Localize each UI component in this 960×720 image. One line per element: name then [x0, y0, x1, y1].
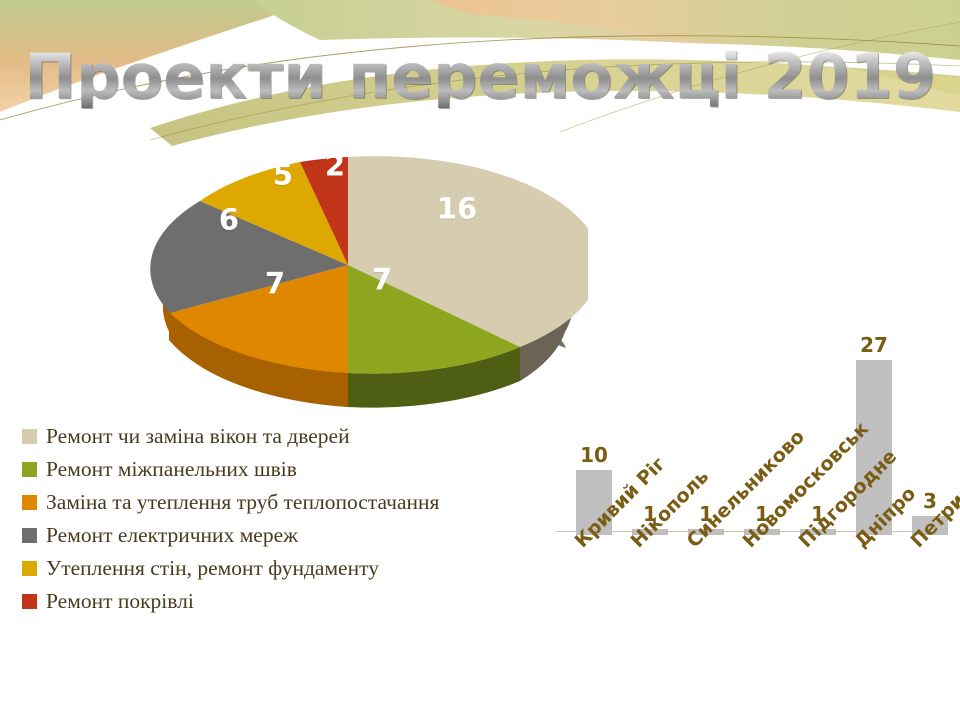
pie-label-gray: 6 — [219, 206, 239, 235]
pie-chart-svg — [108, 120, 588, 410]
legend-swatch-icon-orange — [22, 495, 37, 510]
legend-swatch-icon-gold — [22, 561, 37, 576]
pie-label-gold: 5 — [273, 161, 293, 190]
legend-item-heating-pipes[interactable]: Заміна та утеплення труб теплопостачання — [22, 486, 542, 519]
pie-chart: 16 7 7 6 5 2 — [108, 120, 588, 410]
legend-item-panel-seams[interactable]: Ремонт міжпанельних швів — [22, 453, 542, 486]
legend-label: Утеплення стін, ремонт фундаменту — [46, 556, 379, 581]
legend-item-electrical[interactable]: Ремонт електричних мереж — [22, 519, 542, 552]
bar-value-label: 27 — [860, 335, 888, 355]
pie-legend: Ремонт чи заміна вікон та дверей Ремонт … — [22, 420, 542, 618]
bar-value-label: 10 — [580, 445, 608, 465]
legend-item-wall-insulation[interactable]: Утеплення стін, ремонт фундаменту — [22, 552, 542, 585]
legend-label: Ремонт чи заміна вікон та дверей — [46, 424, 350, 449]
legend-swatch-icon-green — [22, 462, 37, 477]
legend-label: Ремонт покрівлі — [46, 589, 194, 614]
pie-label-orange: 7 — [265, 270, 285, 299]
pie-top-face — [150, 156, 588, 373]
pie-label-beige: 16 — [437, 195, 477, 224]
legend-label: Ремонт електричних мереж — [46, 523, 298, 548]
legend-swatch-icon-gray — [22, 528, 37, 543]
page-title: Проекти переможці 2019 — [0, 46, 960, 108]
pie-label-red: 2 — [325, 152, 345, 181]
legend-item-roof-repair[interactable]: Ремонт покрівлі — [22, 585, 542, 618]
legend-item-windows-doors[interactable]: Ремонт чи заміна вікон та дверей — [22, 420, 542, 453]
legend-swatch-icon-beige — [22, 429, 37, 444]
legend-label: Заміна та утеплення труб теплопостачання — [46, 490, 439, 515]
legend-swatch-icon-red — [22, 594, 37, 609]
bar-chart: 10 1 1 1 1 27 3 Кривий Ріг Нікополь Сине… — [556, 330, 952, 720]
pie-label-green: 7 — [372, 266, 392, 295]
legend-label: Ремонт міжпанельних швів — [46, 457, 297, 482]
